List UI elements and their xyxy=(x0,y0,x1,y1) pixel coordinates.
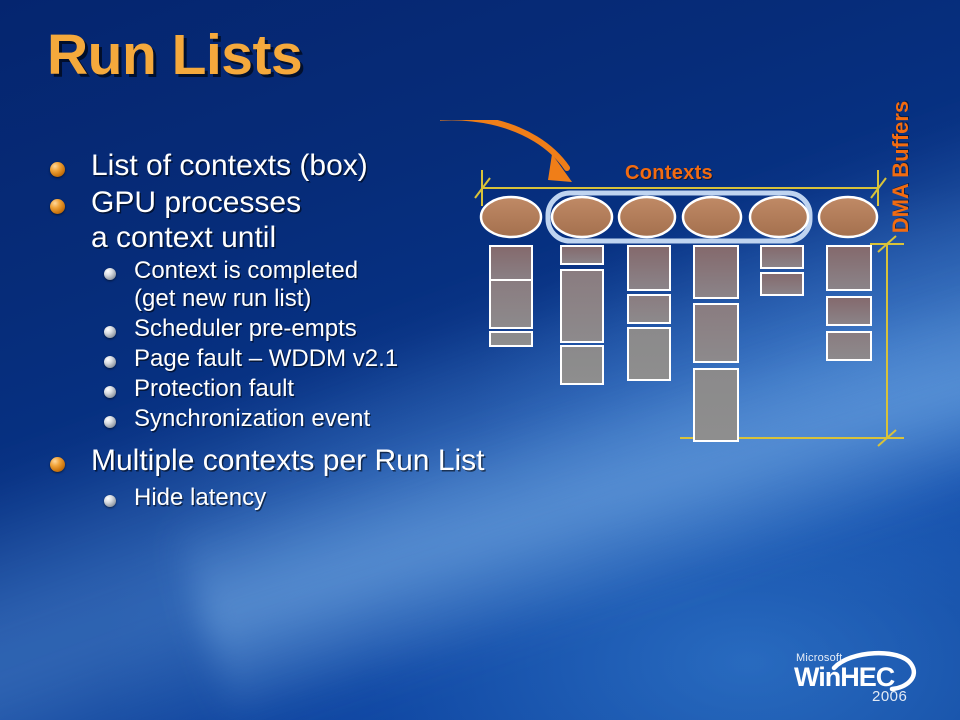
list-item-label: Multiple contexts per Run List xyxy=(91,443,485,478)
context-ellipse xyxy=(552,197,612,237)
context-ellipse xyxy=(683,197,741,237)
orange-bullet-icon xyxy=(50,457,65,472)
winhec-logo: Microsoft WinHEC 2006 xyxy=(788,648,938,706)
list-item-label: List of contexts (box) xyxy=(91,148,368,183)
context-ellipse xyxy=(819,197,877,237)
silver-bullet-icon xyxy=(104,268,116,280)
orange-bullet-icon xyxy=(50,199,65,214)
list-item-label: Page fault – WDDM v2.1 xyxy=(134,345,398,373)
dma-buffer-column xyxy=(694,246,738,441)
list-item-label: Scheduler pre-empts xyxy=(134,315,357,343)
dma-buffer-column xyxy=(761,246,803,295)
context-ellipse xyxy=(619,197,675,237)
dma-buffers-label: DMA Buffers xyxy=(888,62,922,272)
list-item-label: GPU processes a context until xyxy=(91,185,301,255)
list-item-label: Synchronization event xyxy=(134,405,370,433)
list-item-label: Protection fault xyxy=(134,375,294,403)
silver-bullet-icon xyxy=(104,326,116,338)
callout-arrow-icon xyxy=(440,120,572,182)
contexts-label: Contexts xyxy=(625,162,713,185)
list-item-label: Hide latency xyxy=(134,484,266,512)
page-title: Run Lists xyxy=(47,22,302,88)
list-item: Hide latency xyxy=(104,484,520,512)
orange-bullet-icon xyxy=(50,162,65,177)
silver-bullet-icon xyxy=(104,386,116,398)
slide-canvas: Run Lists List of contexts (box) GPU pro… xyxy=(0,0,960,720)
dma-buffer-column xyxy=(628,246,670,380)
dma-buffer-column xyxy=(561,246,603,384)
silver-bullet-icon xyxy=(104,416,116,428)
context-ellipse xyxy=(750,197,808,237)
list-item-label: Context is completed (get new run list) xyxy=(134,257,358,313)
dma-buffer-column xyxy=(490,246,532,346)
dma-buffer-column xyxy=(827,246,871,360)
context-ellipse xyxy=(481,197,541,237)
silver-bullet-icon xyxy=(104,356,116,368)
silver-bullet-icon xyxy=(104,495,116,507)
logo-year-text: 2006 xyxy=(872,688,907,705)
